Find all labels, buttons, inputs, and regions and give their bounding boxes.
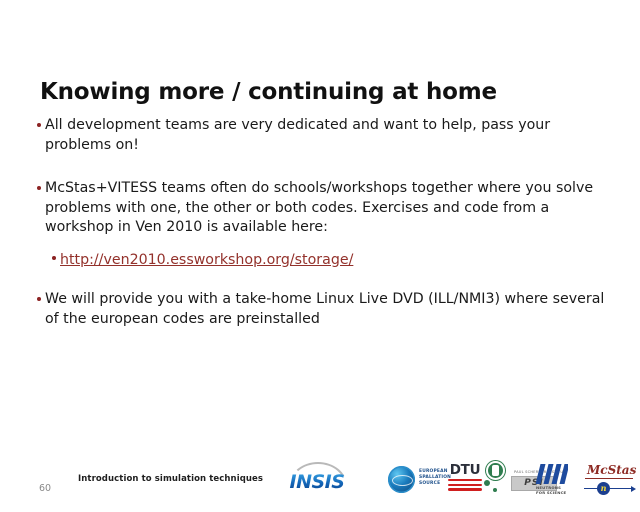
bullet-item-2: McStas+VITESS teams often do schools/wor… — [36, 179, 606, 238]
dtu-bars-icon — [448, 479, 482, 494]
sub-bullet-dot-icon — [52, 256, 56, 260]
slide-canvas: Knowing more / continuing at home All de… — [0, 0, 640, 512]
spacer-2 — [36, 280, 606, 290]
page-title: Knowing more / continuing at home — [40, 79, 497, 105]
insis-wordmark: INSIS — [283, 471, 351, 493]
ill-logo: NEUTRONS FOR SCIENCE — [536, 464, 588, 498]
spacer-1 — [36, 166, 606, 179]
ess-globe-icon — [388, 466, 415, 493]
mcstas-logo: McStas n — [583, 463, 637, 501]
mcstas-underline — [585, 478, 633, 479]
bullet-dot-icon — [37, 297, 41, 301]
slide-footer: 60 Introduction to simulation techniques… — [0, 456, 640, 512]
footer-title: Introduction to simulation techniques — [78, 474, 263, 484]
sub-bullet-link-item[interactable]: http://ven2010.essworkshop.org/storage/ — [36, 249, 606, 271]
seal-dot-icon — [484, 480, 490, 486]
bullet-item-3: We will provide you with a take-home Lin… — [36, 290, 606, 329]
bullet-text-3: We will provide you with a take-home Lin… — [45, 290, 606, 329]
dtu-logo: DTU — [446, 462, 484, 498]
ill-stripes-icon — [536, 464, 568, 484]
workshop-storage-link[interactable]: http://ven2010.essworkshop.org/storage/ — [60, 252, 353, 268]
ill-tagline: NEUTRONS FOR SCIENCE — [536, 485, 566, 495]
bullet-dot-icon — [37, 123, 41, 127]
seal-dot-icon — [493, 488, 497, 492]
page-number: 60 — [39, 483, 51, 494]
mcstas-neutron-icon: n — [597, 482, 610, 495]
dtu-wordmark: DTU — [446, 462, 484, 478]
logo-strip: INSIS EUROPEAN SPALLATION SOURCE DTU — [283, 456, 633, 512]
bullet-item-1: All development teams are very dedicated… — [36, 116, 606, 155]
mcstas-arrow-icon — [631, 486, 636, 492]
bullet-dot-icon — [37, 186, 41, 190]
seal-ring-icon — [486, 461, 505, 480]
slide-body: All development teams are very dedicated… — [36, 116, 606, 340]
mcstas-wordmark: McStas — [587, 463, 636, 477]
insis-logo: INSIS — [283, 462, 351, 498]
bullet-text-1: All development teams are very dedicated… — [45, 116, 606, 155]
green-seal-logo — [481, 461, 515, 497]
ill-line-2: FOR SCIENCE — [536, 490, 566, 495]
ess-logo: EUROPEAN SPALLATION SOURCE — [388, 465, 450, 495]
bullet-text-2: McStas+VITESS teams often do schools/wor… — [45, 179, 606, 238]
